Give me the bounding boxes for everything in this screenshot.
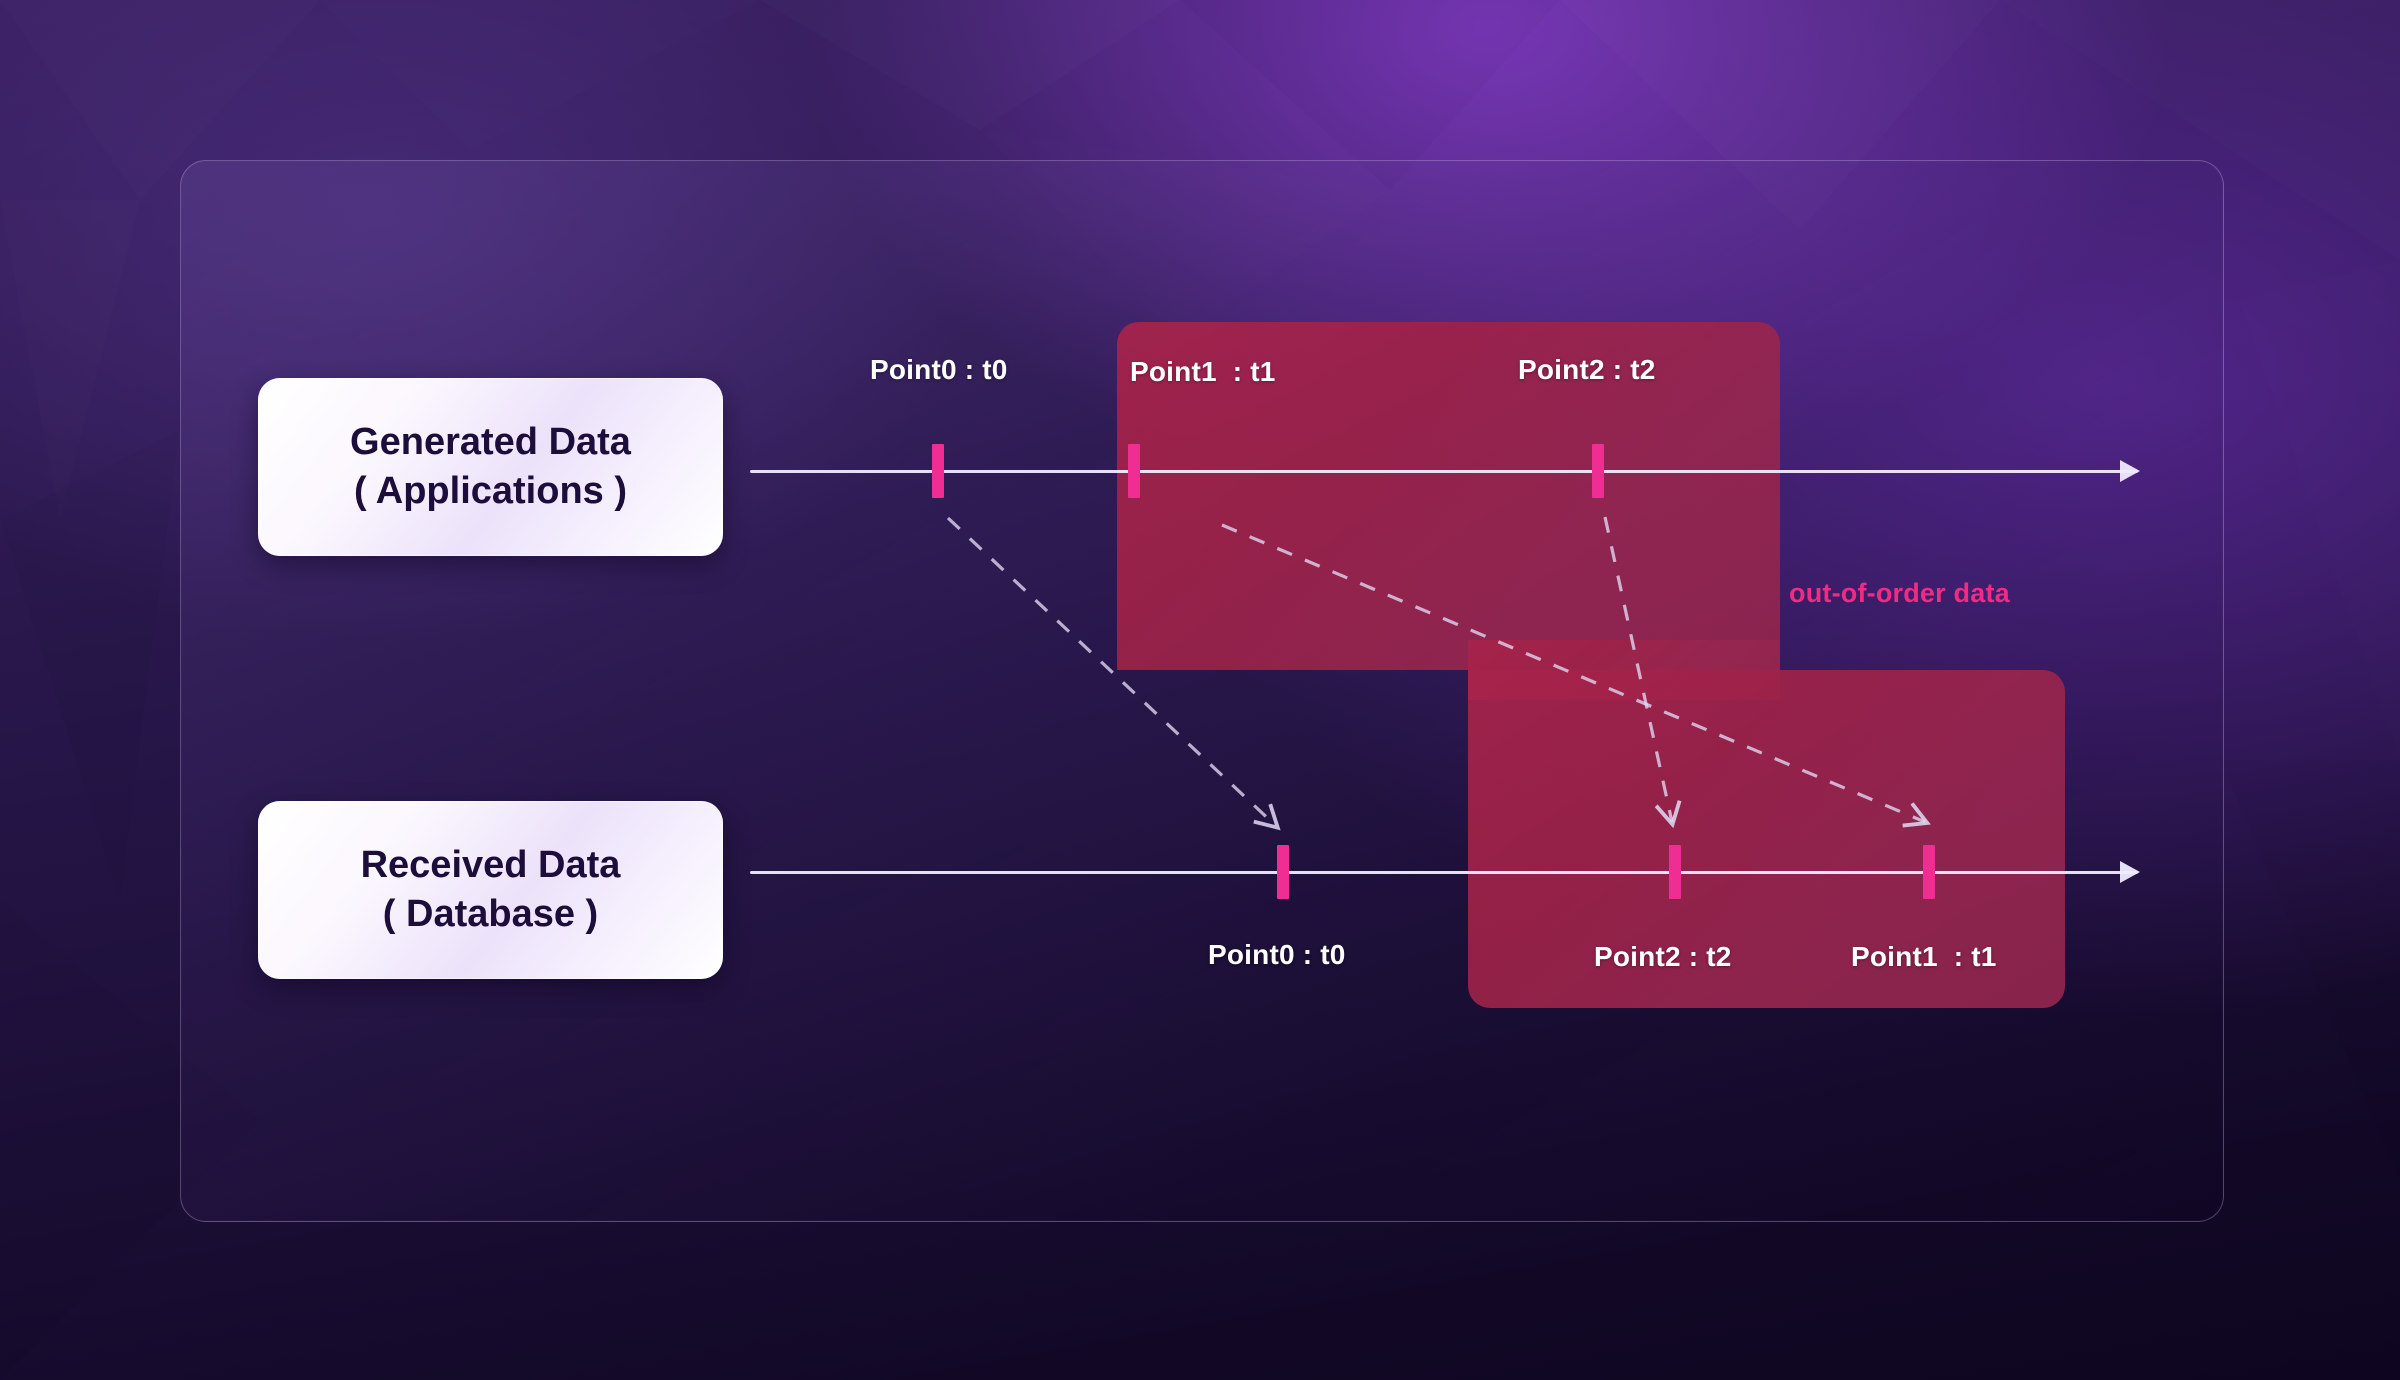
label-received-point0: Point0 : t0 xyxy=(1208,939,1346,971)
generated-data-box-line1: Generated Data xyxy=(350,418,631,467)
tick-received-point0 xyxy=(1277,845,1289,899)
diagram-canvas: Point0 : t0 Point1 : t1 Point2 : t2 Poin… xyxy=(0,0,2400,1380)
received-data-box-line2: ( Database ) xyxy=(383,890,598,939)
out-of-order-annotation: out-of-order data xyxy=(1789,578,2010,609)
tick-generated-point0 xyxy=(932,444,944,498)
label-received-point2: Point2 : t2 xyxy=(1594,941,1732,973)
label-generated-point1: Point1 : t1 xyxy=(1130,356,1276,388)
received-data-box[interactable]: Received Data ( Database ) xyxy=(258,801,723,979)
generated-timeline-arrowhead xyxy=(2120,460,2140,482)
tick-generated-point1 xyxy=(1128,444,1140,498)
label-generated-point0: Point0 : t0 xyxy=(870,354,1008,386)
generated-timeline-axis xyxy=(750,470,2138,473)
label-received-point1: Point1 : t1 xyxy=(1851,941,1997,973)
tick-generated-point2 xyxy=(1592,444,1604,498)
generated-data-box-line2: ( Applications ) xyxy=(354,467,627,516)
tick-received-point2 xyxy=(1669,845,1681,899)
received-data-box-line1: Received Data xyxy=(361,841,621,890)
label-generated-point2: Point2 : t2 xyxy=(1518,354,1656,386)
received-timeline-arrowhead xyxy=(2120,861,2140,883)
tick-received-point1 xyxy=(1923,845,1935,899)
generated-data-box[interactable]: Generated Data ( Applications ) xyxy=(258,378,723,556)
